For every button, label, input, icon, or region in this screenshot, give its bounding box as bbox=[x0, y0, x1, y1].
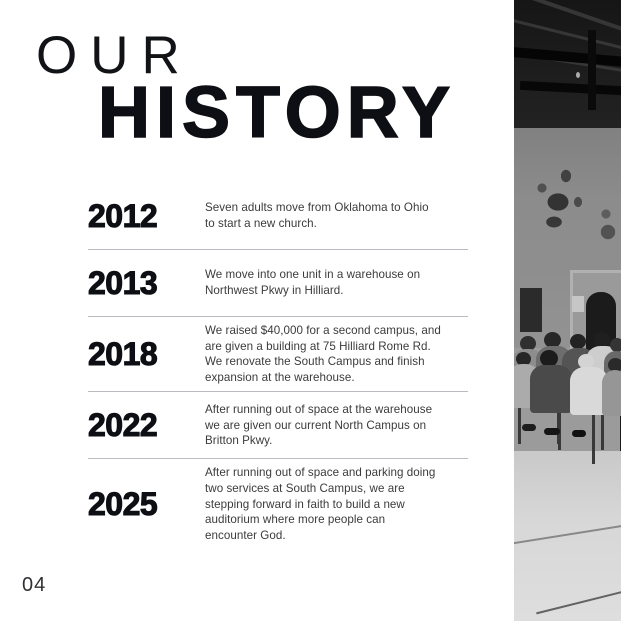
photo-ceiling-beam bbox=[520, 81, 621, 96]
timeline-description: After running out of space at the wareho… bbox=[205, 402, 468, 449]
timeline-description: After running out of space and parking d… bbox=[205, 465, 468, 543]
photo-speaker-cabinet bbox=[520, 288, 542, 332]
title-line-history: HISTORY bbox=[98, 74, 456, 152]
congregation-photo bbox=[514, 0, 621, 621]
photo-wall-mural-secondary bbox=[592, 206, 621, 252]
page-title: OUR HISTORY bbox=[0, 28, 500, 158]
photo-ceiling bbox=[514, 0, 621, 128]
timeline-row: 2025 After running out of space and park… bbox=[88, 458, 468, 549]
photo-ceiling-truss bbox=[514, 0, 621, 35]
timeline-row: 2012 Seven adults move from Oklahoma to … bbox=[88, 183, 468, 249]
photo-shoe bbox=[522, 424, 536, 431]
photo-wall-placard bbox=[572, 296, 584, 312]
timeline-year: 2022 bbox=[88, 408, 205, 442]
timeline-description: Seven adults move from Oklahoma to Ohio … bbox=[205, 200, 468, 231]
timeline-year: 2013 bbox=[88, 266, 205, 300]
page-number: 04 bbox=[22, 574, 46, 597]
photo-support-post bbox=[588, 30, 596, 110]
timeline-year: 2018 bbox=[88, 337, 205, 371]
photo-shoe bbox=[572, 430, 586, 437]
timeline-row: 2013 We move into one unit in a warehous… bbox=[88, 249, 468, 316]
photo-wall-mural bbox=[534, 168, 588, 234]
photo-shoe bbox=[544, 428, 560, 435]
timeline-row: 2018 We raised $40,000 for a second camp… bbox=[88, 316, 468, 391]
photo-seated-crowd bbox=[514, 332, 621, 462]
timeline-year: 2025 bbox=[88, 487, 205, 521]
slide-canvas: OUR HISTORY 2012 Seven adults move from … bbox=[0, 0, 621, 621]
history-timeline: 2012 Seven adults move from Oklahoma to … bbox=[88, 183, 468, 549]
photo-ceiling-beam bbox=[514, 47, 621, 67]
timeline-row: 2022 After running out of space at the w… bbox=[88, 391, 468, 458]
timeline-description: We move into one unit in a warehouse on … bbox=[205, 267, 468, 298]
photo-ceiling-light bbox=[576, 72, 580, 78]
timeline-description: We raised $40,000 for a second campus, a… bbox=[205, 323, 468, 385]
timeline-year: 2012 bbox=[88, 199, 205, 233]
